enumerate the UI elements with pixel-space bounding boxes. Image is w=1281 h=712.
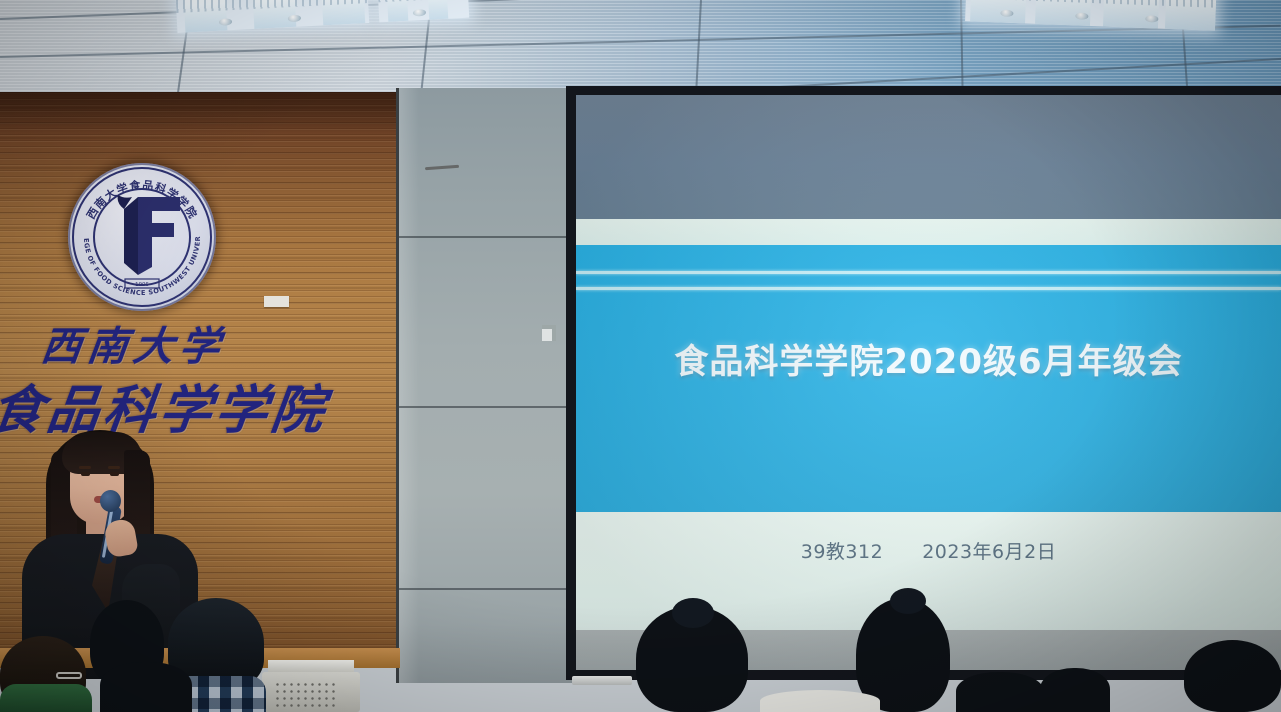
emblem-f-mark	[118, 195, 180, 275]
wall-switch-plate[interactable]	[542, 325, 556, 341]
college-emblem: 西南大学食品科学学院 COLLEGE OF FOOD SCIENCE SOUTH…	[68, 163, 216, 311]
audience-shoulder	[760, 690, 880, 712]
wall-calligraphy-university: 西南大学	[38, 314, 229, 372]
audience-green-shirt	[0, 684, 92, 712]
slide-accent-rule-2	[576, 287, 1281, 290]
ceiling	[0, 0, 1281, 98]
slide-top-band	[576, 95, 1281, 219]
panel-seam	[399, 236, 578, 238]
audience-head	[956, 672, 1044, 712]
presentation-slide[interactable]: 食品科学学院2020级6月年级会 39教312 2023年6月2日	[576, 95, 1281, 670]
audience-glasses-icon	[56, 672, 82, 679]
svg-text:1906: 1906	[135, 282, 149, 288]
slide-accent-rule-1	[576, 271, 1281, 274]
audience-head	[100, 662, 192, 712]
presenter-eyebrow-right	[108, 466, 120, 469]
audience-hair-bun	[672, 598, 714, 628]
emblem-text-svg: 西南大学食品科学学院 COLLEGE OF FOOD SCIENCE SOUTH…	[68, 163, 216, 311]
classroom-photo-scene: 西南大学食品科学学院 COLLEGE OF FOOD SCIENCE SOUTH…	[0, 0, 1281, 712]
panel-seam	[399, 406, 578, 408]
panel-seam	[399, 588, 578, 590]
wood-top-shadow	[0, 92, 400, 136]
audience-hair-bun	[890, 588, 926, 614]
microphone-head	[100, 490, 121, 512]
audience-head	[1184, 640, 1281, 712]
speaker-grille	[274, 681, 336, 707]
presenter-eye-left	[81, 472, 90, 476]
slide-subtitle: 39教312 2023年6月2日	[576, 537, 1281, 564]
screen-bottom-bar	[572, 676, 632, 685]
audience-head	[1040, 668, 1110, 712]
slide-title: 食品科学学院2020级6月年级会	[576, 334, 1281, 383]
wall-edge-highlight	[399, 88, 419, 683]
projection-screen-frame: 食品科学学院2020级6月年级会 39教312 2023年6月2日	[566, 86, 1281, 680]
presenter-eye-right	[110, 472, 119, 476]
av-equipment-box	[262, 672, 360, 712]
slide-upper-white-band	[576, 219, 1281, 245]
grey-wall-panels	[396, 88, 578, 683]
wall-small-label	[264, 296, 289, 307]
presenter-eyebrow-left	[79, 466, 91, 469]
wall-scuff-mark	[425, 165, 459, 170]
